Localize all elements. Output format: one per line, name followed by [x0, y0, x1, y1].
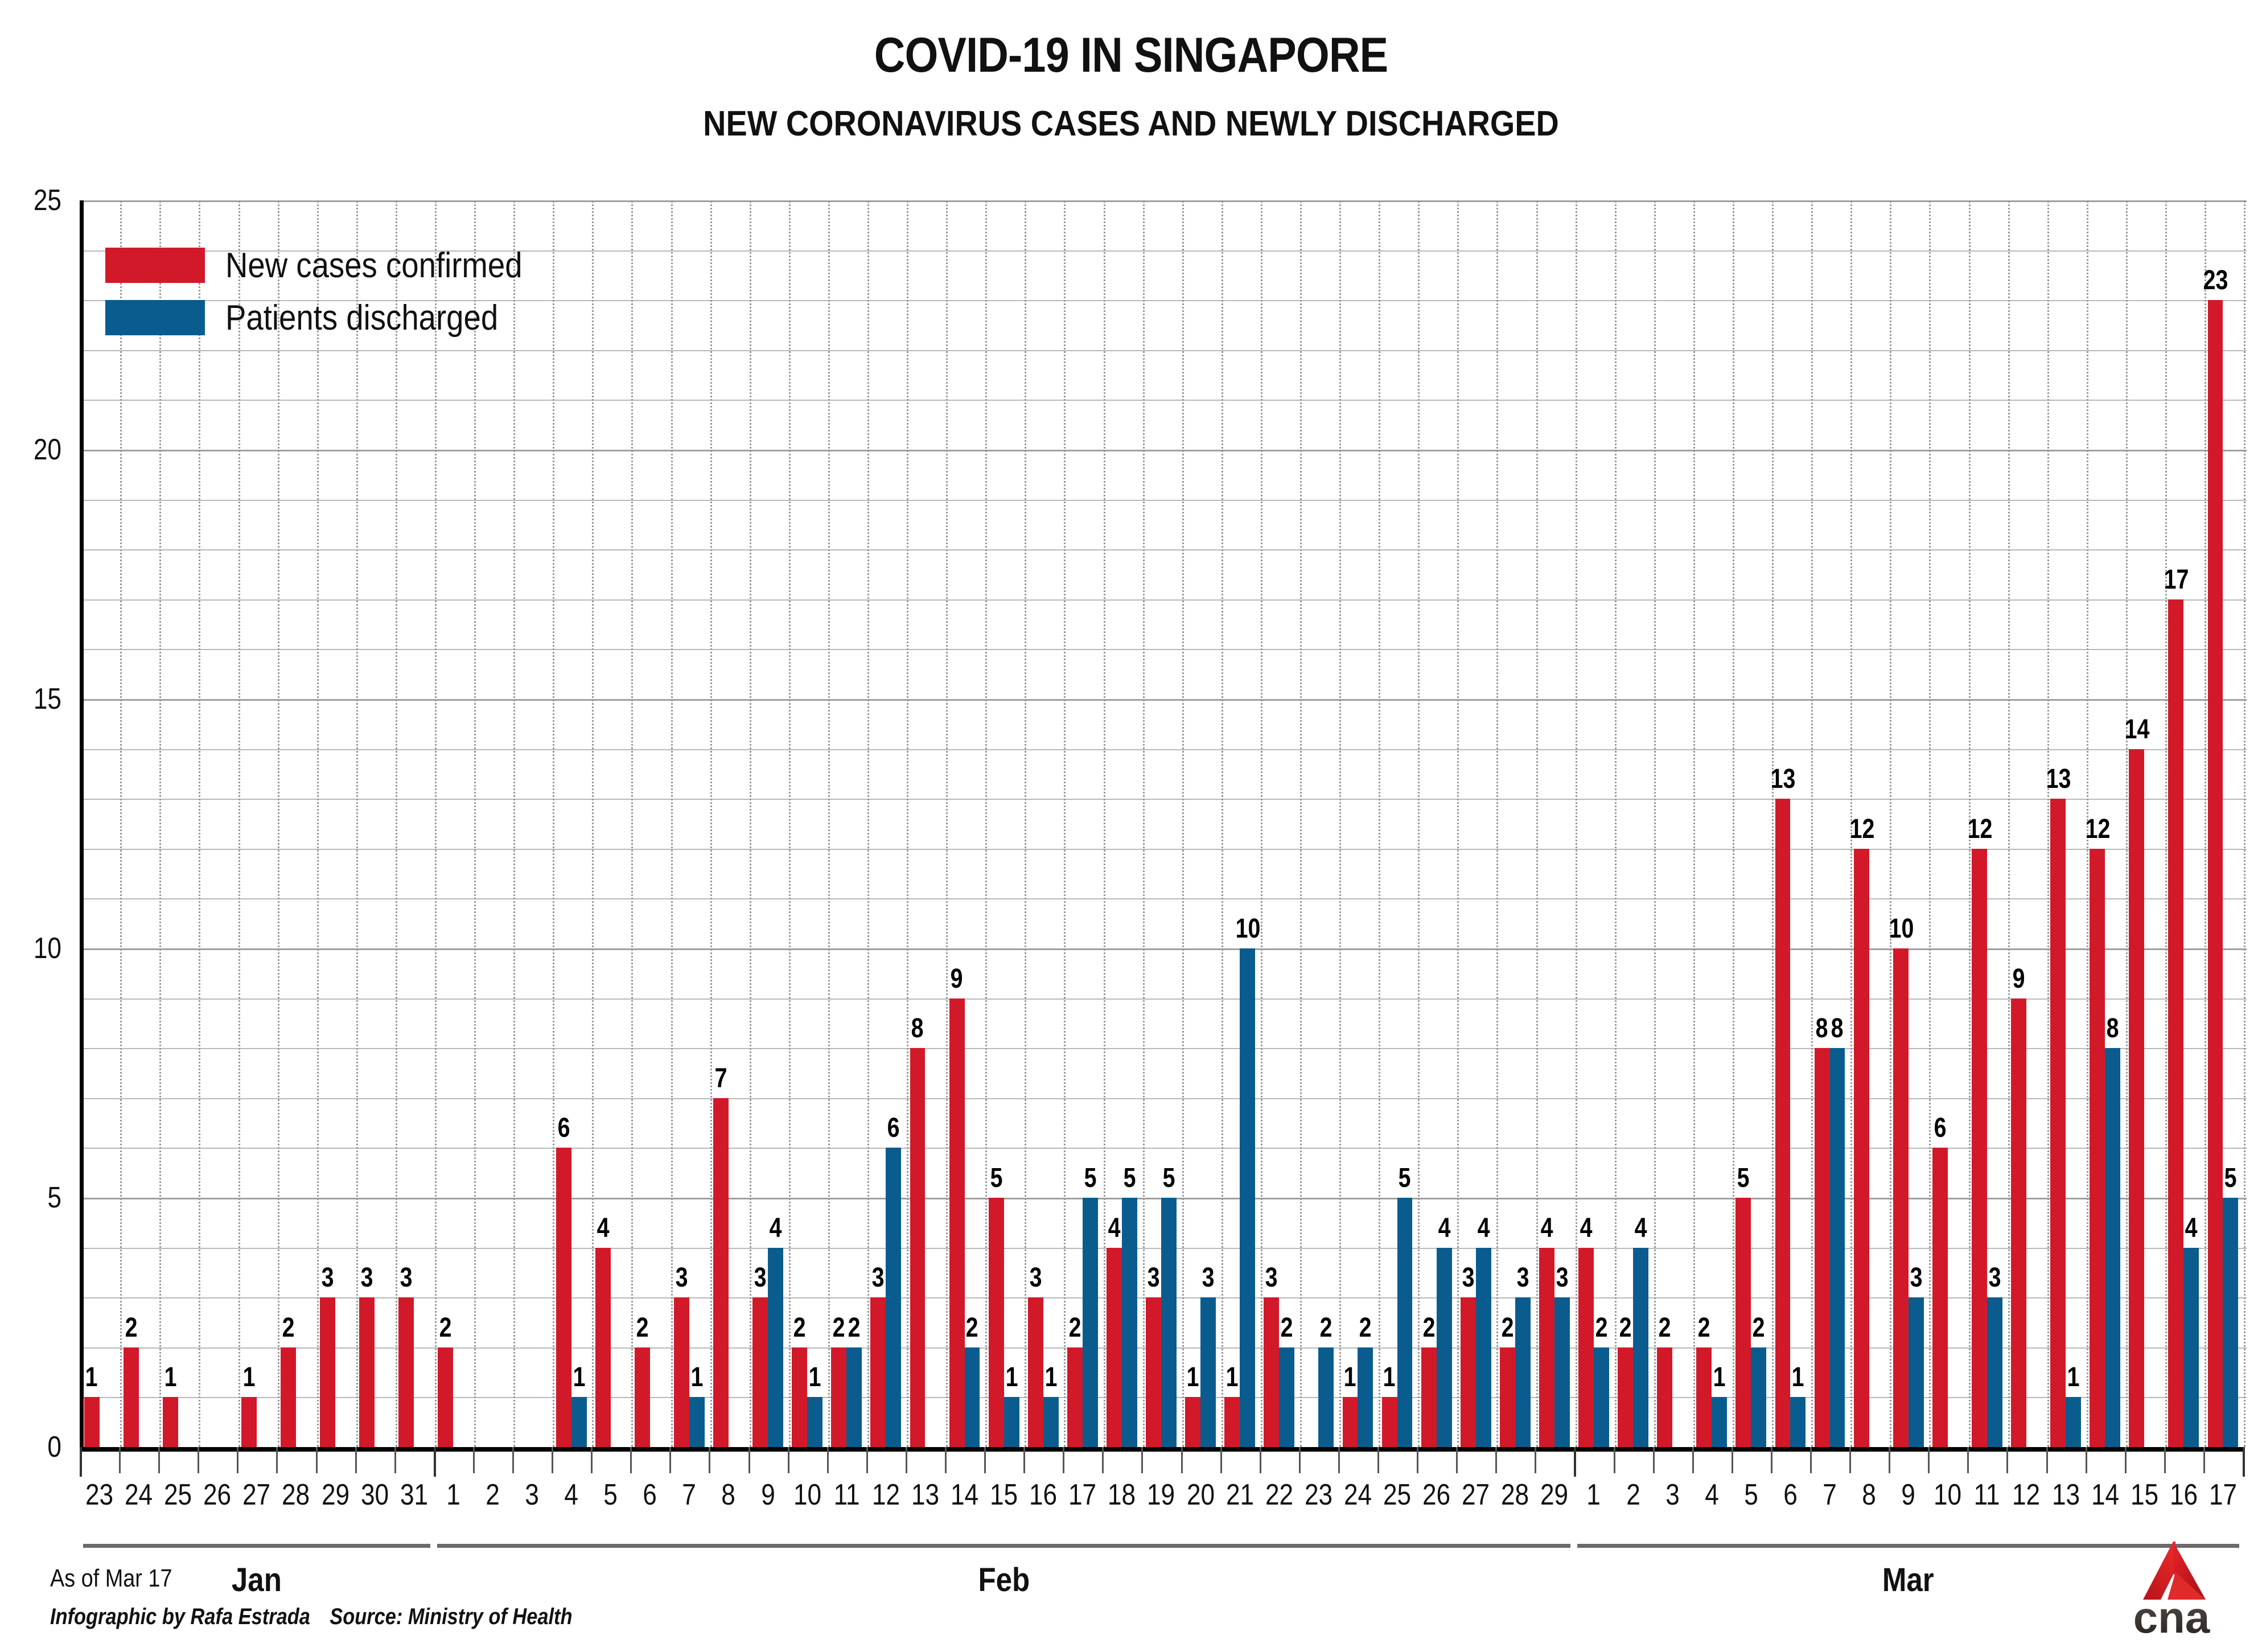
x-tick-label-22: 14: [948, 1478, 981, 1512]
bar-discharged-24: [1043, 1397, 1059, 1447]
bar-new-cases-45: [1854, 849, 1869, 1447]
bar-new-cases-40: [1657, 1347, 1672, 1447]
x-tick-31: [1299, 1447, 1301, 1473]
value-label-new-cases-4: 1: [237, 1362, 261, 1393]
bar-new-cases-53: [2168, 599, 2183, 1447]
bar-new-cases-20: [870, 1297, 886, 1447]
bar-new-cases-7: [359, 1297, 375, 1447]
bars-layer: 1211233326142317342122368925131254535131…: [80, 200, 2243, 1447]
x-tick-label-51: 14: [2088, 1478, 2122, 1512]
bar-new-cases-2: [163, 1397, 178, 1447]
x-tick-label-13: 5: [594, 1478, 627, 1512]
x-tick-label-16: 8: [712, 1478, 746, 1512]
bar-new-cases-5: [281, 1347, 296, 1447]
x-tick-label-29: 21: [1223, 1478, 1257, 1512]
bar-new-cases-52: [2129, 749, 2144, 1447]
x-tick-51: [2086, 1447, 2087, 1473]
value-label-discharged-24: 1: [1039, 1362, 1063, 1393]
x-tick-49: [2006, 1447, 2008, 1473]
value-label-new-cases-13: 4: [591, 1213, 615, 1244]
x-tick-label-3: 26: [200, 1478, 234, 1512]
value-label-discharged-27: 5: [1157, 1162, 1181, 1194]
cna-logo-mark: cna: [2106, 1537, 2237, 1639]
x-tick-34: [1417, 1447, 1418, 1473]
x-tick-label-12: 4: [554, 1478, 588, 1512]
value-label-discharged-37: 3: [1550, 1262, 1574, 1293]
bar-new-cases-43: [1775, 799, 1791, 1447]
page-title: COVID-19 IN SINGAPORE: [135, 27, 2126, 84]
value-label-discharged-32: 2: [1354, 1312, 1377, 1343]
vgrid-54: [2244, 200, 2245, 1447]
bar-discharged-42: [1751, 1347, 1766, 1447]
x-tick-label-10: 2: [476, 1478, 509, 1512]
bar-new-cases-46: [1893, 948, 1909, 1447]
x-tick-label-31: 23: [1302, 1478, 1335, 1512]
value-label-discharged-35: 4: [1471, 1213, 1495, 1244]
bar-discharged-50: [2066, 1397, 2081, 1447]
x-tick-label-28: 20: [1184, 1478, 1218, 1512]
x-tick-3: [198, 1447, 199, 1473]
y-tick-label-20: 20: [9, 433, 61, 467]
x-tick-label-25: 17: [1066, 1478, 1099, 1512]
value-label-new-cases-14: 2: [630, 1312, 654, 1343]
value-label-new-cases-41: 2: [1692, 1312, 1716, 1343]
x-tick-label-53: 16: [2167, 1478, 2201, 1512]
bar-new-cases-44: [1815, 1048, 1830, 1447]
bar-new-cases-23: [989, 1198, 1004, 1447]
x-tick-label-45: 8: [1852, 1478, 1886, 1512]
value-label-new-cases-8: 3: [394, 1262, 418, 1293]
x-tick-38: [1574, 1447, 1576, 1477]
x-tick-17: [748, 1447, 750, 1473]
bar-new-cases-35: [1461, 1297, 1476, 1447]
x-tick-15: [669, 1447, 671, 1473]
value-label-discharged-33: 5: [1393, 1162, 1417, 1194]
x-tick-6: [316, 1447, 318, 1473]
value-label-discharged-44: 8: [1825, 1013, 1849, 1044]
x-tick-label-48: 11: [1971, 1478, 2004, 1512]
value-label-new-cases-45: 12: [1849, 813, 1873, 845]
value-label-new-cases-6: 3: [316, 1262, 340, 1293]
bar-new-cases-8: [398, 1297, 414, 1447]
x-tick-40: [1653, 1447, 1655, 1473]
x-tick-label-1: 24: [122, 1478, 155, 1512]
x-tick-46: [1889, 1447, 1890, 1473]
bar-discharged-33: [1397, 1198, 1413, 1447]
x-tick-label-35: 27: [1459, 1478, 1492, 1512]
bar-discharged-31: [1318, 1347, 1334, 1447]
value-label-new-cases-54: 23: [2203, 265, 2227, 296]
value-label-discharged-28: 3: [1196, 1262, 1220, 1293]
value-label-discharged-39: 4: [1629, 1213, 1653, 1244]
bar-discharged-17: [768, 1248, 783, 1447]
value-label-new-cases-50: 13: [2046, 763, 2070, 795]
x-tick-13: [591, 1447, 593, 1473]
x-tick-50: [2046, 1447, 2048, 1473]
x-tick-label-43: 6: [1774, 1478, 1807, 1512]
x-tick-label-5: 28: [279, 1478, 313, 1512]
value-label-new-cases-21: 8: [906, 1013, 930, 1044]
x-tick-53: [2164, 1447, 2166, 1473]
value-label-new-cases-7: 3: [355, 1262, 379, 1293]
x-tick-12: [552, 1447, 553, 1473]
bar-new-cases-50: [2050, 799, 2066, 1447]
bar-discharged-25: [1083, 1198, 1098, 1447]
x-tick-label-15: 7: [673, 1478, 706, 1512]
x-tick-label-47: 10: [1931, 1478, 1964, 1512]
value-label-new-cases-46: 10: [1889, 913, 1913, 944]
x-tick-label-36: 28: [1498, 1478, 1532, 1512]
x-tick-label-2: 25: [161, 1478, 195, 1512]
value-label-new-cases-42: 5: [1732, 1162, 1755, 1194]
bar-new-cases-26: [1107, 1248, 1122, 1447]
x-tick-37: [1535, 1447, 1536, 1473]
bar-new-cases-22: [949, 998, 965, 1447]
x-tick-label-8: 31: [397, 1478, 431, 1512]
x-tick-8: [394, 1447, 396, 1473]
bar-discharged-15: [689, 1397, 705, 1447]
x-tick-label-30: 22: [1262, 1478, 1296, 1512]
bar-new-cases-34: [1421, 1347, 1437, 1447]
bar-new-cases-17: [752, 1297, 768, 1447]
month-rule-jan: [83, 1544, 430, 1548]
legend-swatch-discharged: [105, 300, 205, 335]
value-label-new-cases-0: 1: [80, 1362, 104, 1393]
x-tick-9: [434, 1447, 436, 1477]
x-tick-label-24: 16: [1026, 1478, 1060, 1512]
as-of-text: As of Mar 17: [50, 1564, 172, 1593]
bar-discharged-27: [1161, 1198, 1177, 1447]
x-tick-label-46: 9: [1891, 1478, 1925, 1512]
value-label-discharged-38: 2: [1589, 1312, 1613, 1343]
bar-new-cases-49: [2011, 998, 2026, 1447]
x-tick-label-6: 29: [319, 1478, 352, 1512]
x-tick-label-11: 3: [515, 1478, 549, 1512]
bar-new-cases-1: [124, 1347, 139, 1447]
x-tick-36: [1495, 1447, 1497, 1473]
y-tick-label-25: 25: [9, 183, 61, 217]
x-tick-5: [276, 1447, 278, 1473]
month-rule-feb: [437, 1544, 1571, 1548]
value-label-discharged-17: 4: [764, 1213, 788, 1244]
x-tick-label-23: 15: [987, 1478, 1021, 1512]
bar-new-cases-29: [1224, 1397, 1240, 1447]
infographic-author: Infographic by Rafa Estrada: [50, 1604, 310, 1629]
value-label-new-cases-1: 2: [119, 1312, 143, 1343]
value-label-new-cases-9: 2: [434, 1312, 458, 1343]
bar-discharged-34: [1437, 1248, 1452, 1447]
value-label-new-cases-18: 2: [788, 1312, 812, 1343]
bar-discharged-41: [1712, 1397, 1727, 1447]
bar-discharged-54: [2223, 1198, 2238, 1447]
legend-label-discharged: Patients discharged: [225, 298, 498, 338]
x-tick-20: [866, 1447, 868, 1473]
x-tick-18: [788, 1447, 789, 1473]
x-tick-label-44: 7: [1813, 1478, 1846, 1512]
x-tick-label-27: 19: [1145, 1478, 1178, 1512]
value-label-discharged-53: 4: [2179, 1213, 2203, 1244]
x-tick-7: [355, 1447, 357, 1473]
bar-new-cases-25: [1067, 1347, 1083, 1447]
bar-discharged-29: [1240, 948, 1255, 1447]
credit-line: Infographic by Rafa EstradaSource: Minis…: [50, 1604, 592, 1630]
x-tick-label-42: 5: [1734, 1478, 1768, 1512]
x-tick-label-32: 24: [1341, 1478, 1375, 1512]
value-label-discharged-46: 3: [1904, 1262, 1928, 1293]
x-tick-23: [984, 1447, 986, 1473]
bar-discharged-44: [1830, 1048, 1845, 1447]
bar-new-cases-51: [2090, 849, 2105, 1447]
x-tick-29: [1220, 1447, 1222, 1473]
bar-new-cases-6: [320, 1297, 335, 1447]
bar-discharged-36: [1515, 1297, 1531, 1447]
bar-discharged-19: [846, 1347, 862, 1447]
x-tick-28: [1181, 1447, 1183, 1473]
x-tick-4: [237, 1447, 238, 1473]
x-tick-19: [827, 1447, 829, 1473]
bar-new-cases-38: [1578, 1248, 1594, 1447]
value-label-discharged-34: 4: [1432, 1213, 1456, 1244]
cna-logo: cna: [2106, 1537, 2237, 1639]
bar-discharged-48: [1987, 1297, 2002, 1447]
value-label-discharged-12: 1: [567, 1362, 591, 1393]
x-tick-label-38: 1: [1577, 1478, 1611, 1512]
value-label-new-cases-12: 6: [552, 1112, 575, 1144]
value-label-discharged-41: 1: [1708, 1362, 1732, 1393]
bar-discharged-35: [1476, 1248, 1491, 1447]
value-label-new-cases-16: 7: [709, 1063, 733, 1094]
y-tick-label-5: 5: [9, 1181, 61, 1215]
value-label-discharged-54: 5: [2219, 1162, 2243, 1194]
value-label-new-cases-52: 14: [2125, 714, 2149, 745]
value-label-new-cases-15: 3: [669, 1262, 693, 1293]
x-tick-label-52: 15: [2128, 1478, 2161, 1512]
x-tick-label-9: 1: [437, 1478, 470, 1512]
bar-new-cases-19: [831, 1347, 846, 1447]
x-tick-41: [1692, 1447, 1694, 1473]
bar-discharged-51: [2105, 1048, 2120, 1447]
value-label-new-cases-22: 9: [945, 963, 969, 995]
x-tick-33: [1377, 1447, 1379, 1473]
x-tick-label-54: 17: [2206, 1478, 2240, 1512]
bar-new-cases-32: [1343, 1397, 1358, 1447]
x-tick-22: [945, 1447, 947, 1473]
x-tick-30: [1260, 1447, 1261, 1473]
x-tick-27: [1141, 1447, 1143, 1473]
x-tick-48: [1967, 1447, 1969, 1473]
bar-discharged-23: [1004, 1397, 1019, 1447]
x-tick-16: [709, 1447, 710, 1473]
x-tick-45: [1849, 1447, 1851, 1473]
x-tick-label-0: 23: [83, 1478, 116, 1512]
value-label-discharged-50: 1: [2062, 1362, 2086, 1393]
bar-new-cases-12: [556, 1148, 571, 1447]
value-label-discharged-22: 2: [960, 1312, 984, 1343]
value-label-discharged-25: 5: [1078, 1162, 1102, 1194]
x-tick-35: [1456, 1447, 1458, 1473]
legend-label-new-cases: New cases confirmed: [225, 245, 523, 286]
x-tick-label-40: 3: [1656, 1478, 1689, 1512]
bar-discharged-20: [886, 1148, 901, 1447]
bar-new-cases-48: [1972, 849, 1987, 1447]
bar-discharged-43: [1790, 1397, 1806, 1447]
x-tick-label-19: 11: [830, 1478, 863, 1512]
x-tick-44: [1810, 1447, 1812, 1473]
x-tick-42: [1732, 1447, 1733, 1473]
value-label-discharged-20: 6: [882, 1112, 906, 1144]
y-tick-label-0: 0: [9, 1430, 61, 1464]
bar-discharged-53: [2183, 1248, 2199, 1447]
value-label-new-cases-53: 17: [2164, 564, 2188, 595]
month-label-feb: Feb: [505, 1561, 1503, 1599]
value-label-new-cases-37: 4: [1535, 1213, 1558, 1244]
x-tick-11: [512, 1447, 514, 1473]
value-label-new-cases-30: 3: [1260, 1262, 1284, 1293]
bar-discharged-22: [965, 1347, 980, 1447]
bar-discharged-46: [1909, 1297, 1924, 1447]
value-label-discharged-51: 8: [2101, 1013, 2125, 1044]
x-tick-end: [2243, 1447, 2245, 1477]
x-tick-label-7: 30: [358, 1478, 392, 1512]
x-tick-54: [2203, 1447, 2205, 1473]
legend-swatch-new-cases: [105, 248, 205, 283]
value-label-discharged-18: 1: [803, 1362, 827, 1393]
x-tick-label-26: 18: [1105, 1478, 1139, 1512]
bar-new-cases-27: [1146, 1297, 1161, 1447]
value-label-discharged-30: 2: [1275, 1312, 1299, 1343]
infographic-root: COVID-19 IN SINGAPORE NEW CORONAVIRUS CA…: [0, 0, 2262, 1652]
x-tick-label-41: 4: [1695, 1478, 1729, 1512]
x-tick-43: [1771, 1447, 1772, 1473]
x-axis-line: [80, 1447, 2243, 1452]
bar-discharged-28: [1200, 1297, 1216, 1447]
chart-legend: New cases confirmed Patients discharged: [105, 239, 563, 344]
x-tick-39: [1614, 1447, 1615, 1473]
bar-discharged-18: [807, 1397, 822, 1447]
x-tick-32: [1338, 1447, 1340, 1473]
bar-discharged-38: [1594, 1347, 1609, 1447]
value-label-new-cases-5: 2: [277, 1312, 301, 1343]
bar-new-cases-36: [1500, 1347, 1515, 1447]
value-label-new-cases-40: 2: [1653, 1312, 1677, 1343]
y-tick-label-10: 10: [9, 931, 61, 965]
bar-new-cases-13: [595, 1248, 611, 1447]
bar-new-cases-16: [713, 1098, 729, 1447]
value-label-new-cases-23: 5: [984, 1162, 1008, 1194]
x-tick-label-4: 27: [240, 1478, 274, 1512]
bar-new-cases-14: [635, 1347, 650, 1447]
y-tick-label-15: 15: [9, 682, 61, 716]
x-tick-24: [1023, 1447, 1025, 1473]
x-tick-label-39: 2: [1617, 1478, 1650, 1512]
x-tick-14: [630, 1447, 632, 1473]
bar-new-cases-47: [1932, 1148, 1948, 1447]
bar-discharged-39: [1633, 1248, 1648, 1447]
x-tick-label-20: 12: [869, 1478, 903, 1512]
x-tick-26: [1102, 1447, 1104, 1473]
x-tick-47: [1928, 1447, 1930, 1473]
value-label-discharged-31: 2: [1314, 1312, 1338, 1343]
value-label-new-cases-43: 13: [1771, 763, 1795, 795]
bar-discharged-30: [1279, 1347, 1294, 1447]
bar-new-cases-4: [241, 1397, 257, 1447]
x-tick-2: [158, 1447, 160, 1473]
value-label-discharged-42: 2: [1747, 1312, 1771, 1343]
value-label-discharged-23: 1: [1000, 1362, 1023, 1393]
value-label-discharged-15: 1: [685, 1362, 709, 1393]
legend-item-discharged: Patients discharged: [105, 291, 563, 344]
x-tick-label-50: 13: [2049, 1478, 2083, 1512]
page-subtitle: NEW CORONAVIRUS CASES AND NEWLY DISCHARG…: [113, 104, 2149, 144]
bar-new-cases-0: [84, 1397, 100, 1447]
x-tick-label-18: 10: [791, 1478, 824, 1512]
bar-new-cases-21: [910, 1048, 926, 1447]
legend-item-new-cases: New cases confirmed: [105, 239, 563, 291]
value-label-discharged-36: 3: [1511, 1262, 1535, 1293]
bar-new-cases-33: [1382, 1397, 1397, 1447]
value-label-new-cases-38: 4: [1574, 1213, 1598, 1244]
bar-discharged-37: [1554, 1297, 1570, 1447]
data-source: Source: Ministry of Health: [330, 1604, 572, 1629]
bar-discharged-12: [571, 1397, 587, 1447]
x-tick-label-17: 9: [751, 1478, 785, 1512]
value-label-discharged-26: 5: [1117, 1162, 1141, 1194]
x-tick-label-33: 25: [1380, 1478, 1414, 1512]
value-label-new-cases-48: 12: [1967, 813, 1991, 845]
x-tick-1: [119, 1447, 121, 1473]
value-label-discharged-19: 2: [842, 1312, 866, 1343]
x-tick-label-14: 6: [633, 1478, 667, 1512]
bar-discharged-32: [1358, 1347, 1373, 1447]
value-label-discharged-29: 10: [1236, 913, 1260, 944]
value-label-new-cases-49: 9: [2007, 963, 2031, 995]
x-tick-25: [1063, 1447, 1064, 1473]
bar-discharged-26: [1122, 1198, 1137, 1447]
x-tick-label-49: 12: [2010, 1478, 2043, 1512]
bar-new-cases-54: [2208, 300, 2223, 1447]
bar-new-cases-9: [438, 1347, 453, 1447]
x-tick-label-37: 29: [1538, 1478, 1572, 1512]
value-label-new-cases-51: 12: [2086, 813, 2109, 845]
x-tick-52: [2125, 1447, 2127, 1473]
x-tick-0: [80, 1447, 82, 1477]
cna-logo-text: cna: [2133, 1592, 2210, 1639]
bar-new-cases-39: [1618, 1347, 1633, 1447]
value-label-discharged-43: 1: [1786, 1362, 1810, 1393]
value-label-new-cases-2: 1: [158, 1362, 182, 1393]
value-label-discharged-48: 3: [1983, 1262, 2006, 1293]
x-tick-label-21: 13: [908, 1478, 942, 1512]
bar-new-cases-28: [1185, 1397, 1200, 1447]
value-label-new-cases-24: 3: [1023, 1262, 1047, 1293]
x-tick-21: [906, 1447, 907, 1473]
x-tick-10: [473, 1447, 475, 1473]
value-label-new-cases-47: 6: [1928, 1112, 1952, 1144]
x-tick-label-34: 26: [1420, 1478, 1453, 1512]
